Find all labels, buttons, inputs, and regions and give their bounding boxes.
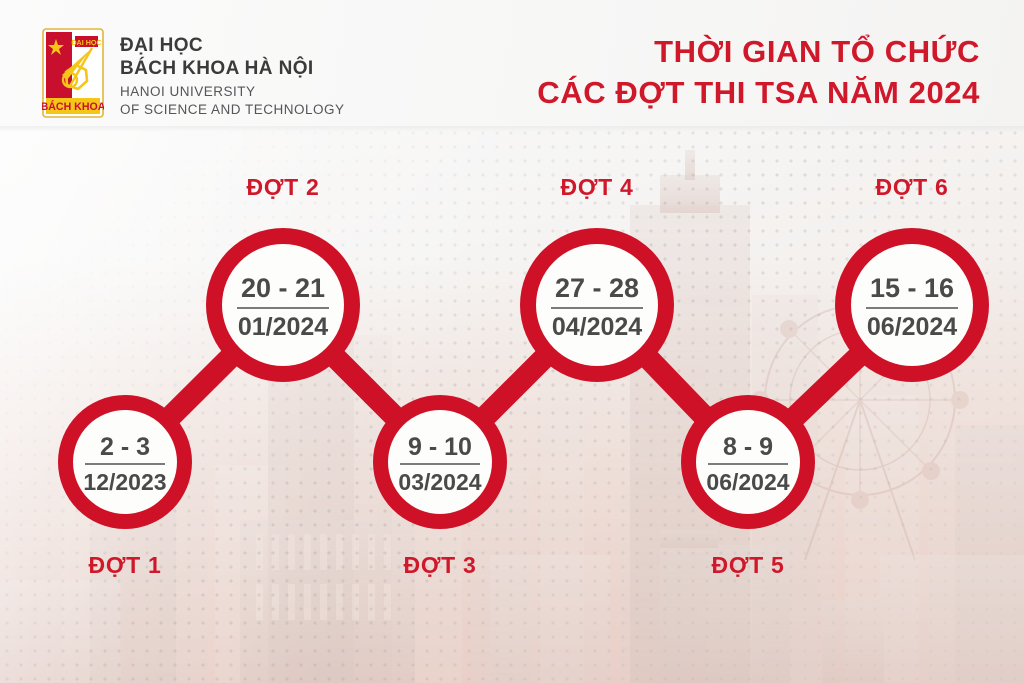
timeline-node[interactable]: 20 - 2101/2024 — [206, 228, 360, 382]
stage-label-4: ĐỢT 4 — [561, 174, 634, 200]
brand-line-3: HANOI UNIVERSITY — [120, 80, 345, 100]
brand-text-block: ĐẠI HỌC BÁCH KHOA HÀ NỘI HANOI UNIVERSIT… — [120, 28, 345, 118]
brand-line-2: BÁCH KHOA HÀ NỘI — [120, 57, 345, 80]
svg-text:ĐẠI HỌC: ĐẠI HỌC — [71, 38, 101, 47]
timeline-node[interactable]: 15 - 1606/2024 — [835, 228, 989, 382]
node-disc — [536, 244, 658, 366]
node-disc — [851, 244, 973, 366]
node-month-year: 06/2024 — [867, 313, 957, 341]
title-line-1: THỜI GIAN TỔ CHỨC — [537, 31, 980, 72]
stage-label-2: ĐỢT 2 — [247, 174, 320, 200]
node-disc — [222, 244, 344, 366]
node-days: 9 - 10 — [408, 433, 472, 461]
node-month-year: 03/2024 — [398, 469, 481, 495]
node-month-year: 01/2024 — [238, 313, 328, 341]
node-days: 8 - 9 — [723, 433, 773, 461]
stage-label-6: ĐỢT 6 — [876, 174, 949, 200]
node-days: 20 - 21 — [241, 273, 325, 303]
page-header: ĐẠI HỌC BÁCH KHOA ĐẠI HỌC BÁCH KHOA HÀ N… — [0, 0, 1024, 130]
timeline-node[interactable]: 9 - 1003/2024 — [373, 395, 507, 529]
timeline-node[interactable]: 2 - 312/2023 — [58, 395, 192, 529]
brand-lockup: ĐẠI HỌC BÁCH KHOA ĐẠI HỌC BÁCH KHOA HÀ N… — [42, 28, 345, 118]
node-days: 15 - 16 — [870, 273, 954, 303]
node-days: 27 - 28 — [555, 273, 639, 303]
title-line-2: CÁC ĐỢT THI TSA NĂM 2024 — [537, 72, 980, 113]
node-month-year: 04/2024 — [552, 313, 642, 341]
page-title: THỜI GIAN TỔ CHỨC CÁC ĐỢT THI TSA NĂM 20… — [537, 31, 980, 113]
node-disc — [696, 410, 800, 514]
timeline-node[interactable]: 8 - 906/2024 — [681, 395, 815, 529]
hust-logo-icon: ĐẠI HỌC BÁCH KHOA — [42, 28, 104, 118]
stage-label-1: ĐỢT 1 — [89, 552, 162, 578]
node-days: 2 - 3 — [100, 433, 150, 461]
stage-label-3: ĐỢT 3 — [404, 552, 477, 578]
node-month-year: 06/2024 — [706, 469, 789, 495]
node-disc — [73, 410, 177, 514]
svg-text:BÁCH KHOA: BÁCH KHOA — [42, 100, 104, 113]
brand-line-4: OF SCIENCE AND TECHNOLOGY — [120, 101, 345, 118]
infographic-canvas: ĐẠI HỌC BÁCH KHOA ĐẠI HỌC BÁCH KHOA HÀ N… — [0, 0, 1024, 683]
node-disc — [388, 410, 492, 514]
stage-label-5: ĐỢT 5 — [712, 552, 785, 578]
timeline-node[interactable]: 27 - 2804/2024 — [520, 228, 674, 382]
node-month-year: 12/2023 — [83, 469, 166, 495]
brand-line-1: ĐẠI HỌC — [120, 34, 345, 57]
